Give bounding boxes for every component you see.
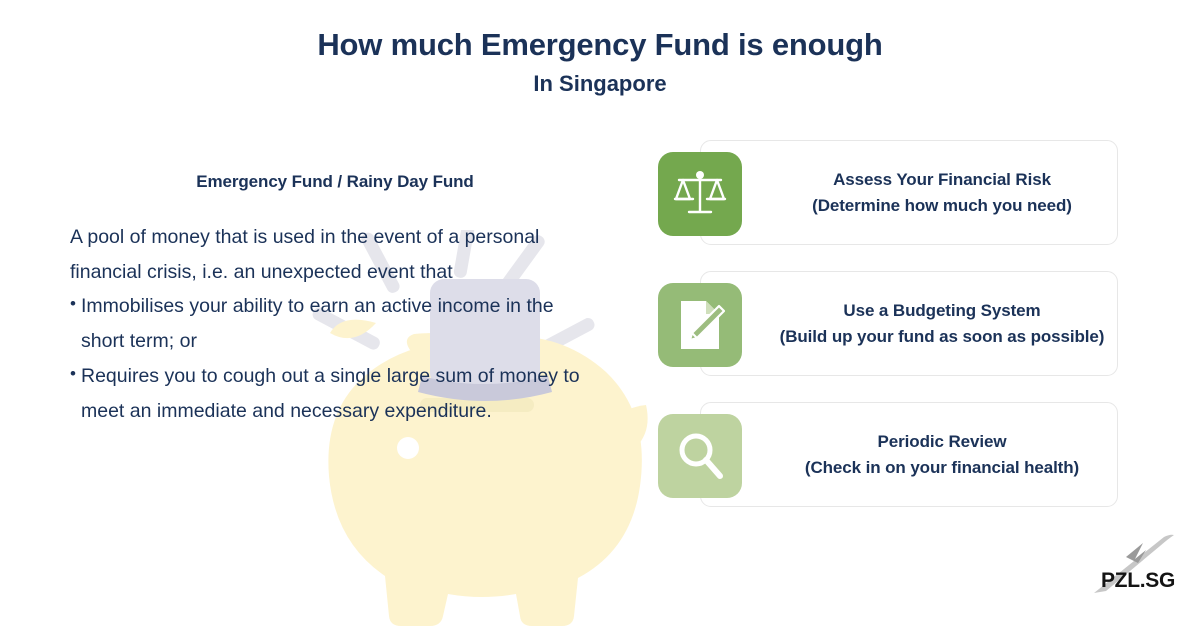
card-text-assess-financial-risk: Assess Your Financial Risk (Determine ho…	[778, 140, 1106, 245]
card-text-periodic-review: Periodic Review (Check in on your financ…	[778, 402, 1106, 507]
definition-bullet-list: Immobilises your ability to earn an acti…	[70, 289, 600, 428]
logo-text: PZL.SG	[1086, 569, 1190, 593]
card-subtitle: (Determine how much you need)	[812, 193, 1072, 219]
step-card-budgeting-system[interactable]: Use a Budgeting System (Build up your fu…	[658, 271, 1118, 376]
card-title: Assess Your Financial Risk	[833, 167, 1051, 193]
card-text-budgeting-system: Use a Budgeting System (Build up your fu…	[778, 271, 1106, 376]
definition-paragraph: A pool of money that is used in the even…	[70, 220, 600, 289]
slide-header: How much Emergency Fund is enough In Sin…	[0, 26, 1200, 98]
brand-logo: PZL.SG	[1086, 533, 1190, 595]
definition-heading: Emergency Fund / Rainy Day Fund	[70, 172, 600, 192]
steps-card-list: Assess Your Financial Risk (Determine ho…	[658, 140, 1118, 507]
balance-scale-icon	[673, 168, 727, 220]
infographic-slide: How much Emergency Fund is enough In Sin…	[0, 0, 1200, 628]
icon-tile-periodic-review	[658, 414, 742, 498]
card-subtitle: (Build up your fund as soon as possible)	[780, 324, 1105, 350]
definition-panel: Emergency Fund / Rainy Day Fund A pool o…	[70, 172, 600, 428]
page-subtitle: In Singapore	[0, 70, 1200, 99]
magnifying-glass-icon	[675, 431, 725, 481]
step-card-assess-financial-risk[interactable]: Assess Your Financial Risk (Determine ho…	[658, 140, 1118, 245]
icon-tile-budgeting-system	[658, 283, 742, 367]
list-item: Immobilises your ability to earn an acti…	[70, 289, 600, 358]
card-subtitle: (Check in on your financial health)	[805, 455, 1079, 481]
document-pencil-icon	[675, 298, 725, 352]
card-title: Periodic Review	[878, 429, 1007, 455]
step-card-periodic-review[interactable]: Periodic Review (Check in on your financ…	[658, 402, 1118, 507]
icon-tile-assess-financial-risk	[658, 152, 742, 236]
card-title: Use a Budgeting System	[843, 298, 1040, 324]
list-item: Requires you to cough out a single large…	[70, 359, 600, 428]
page-title: How much Emergency Fund is enough	[0, 26, 1200, 64]
